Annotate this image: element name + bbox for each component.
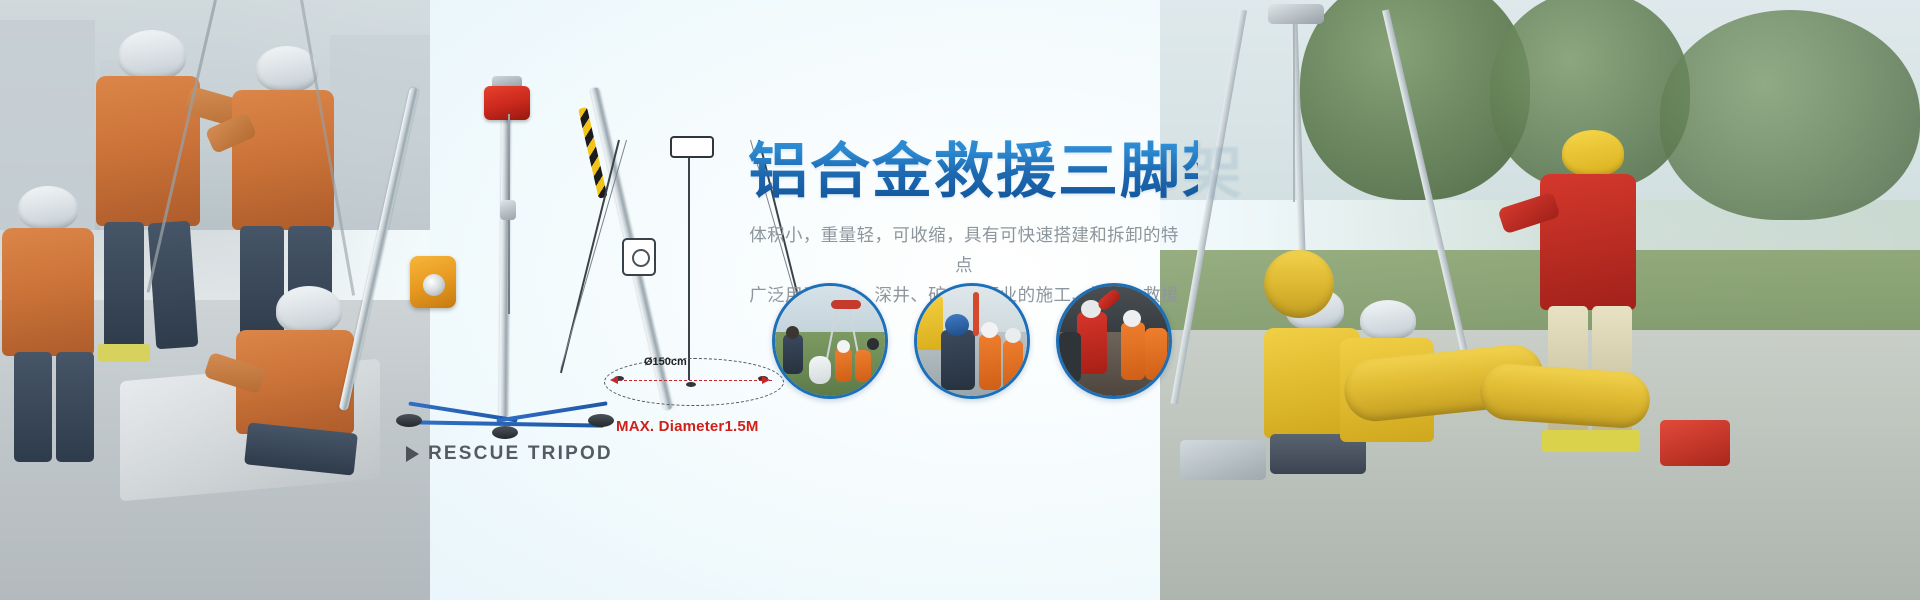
thumb-person-head	[867, 338, 879, 350]
play-triangle-icon	[406, 446, 419, 462]
diagram-leg	[688, 140, 690, 380]
tripod-head-assembly	[484, 86, 530, 120]
thumb-person	[1121, 322, 1145, 380]
thumb-person	[979, 334, 1001, 390]
thumb-person	[1077, 312, 1107, 374]
right-background-photo	[1160, 0, 1920, 600]
thumb-person	[1003, 340, 1023, 390]
thumb-helmet-blue	[945, 314, 969, 336]
thumb-person-head	[1123, 310, 1141, 327]
diagram-max-diameter-label: MAX. Diameter1.5M	[616, 418, 759, 435]
diagram-base-circle	[604, 358, 784, 406]
product-caption-label: RESCUE TRIPOD	[428, 443, 613, 465]
tripod-winch-drum	[423, 274, 445, 296]
thumbnail-field-rescue-training-photo[interactable]	[772, 283, 888, 399]
thumb-person-head	[981, 322, 998, 338]
thumb-tripod-head	[831, 300, 861, 309]
diagram-winch	[622, 238, 656, 276]
tripod-foot	[492, 426, 518, 439]
thumb-equipment	[809, 356, 831, 384]
subtitle-line-1: 体积小，重量轻，可收缩，具有可快速搭建和拆卸的特点	[749, 225, 1179, 275]
product-banner: RESCUE TRIPOD Ø150cm MAX. Diameter1.5M 铝…	[0, 0, 1920, 600]
product-caption: RESCUE TRIPOD	[406, 443, 613, 465]
thumb-pole	[973, 292, 979, 336]
thumb-person	[783, 334, 803, 374]
diagram-diameter-line	[614, 380, 772, 382]
page-title: 铝合金救援三脚架	[748, 140, 1198, 203]
thumbnail-row	[772, 283, 1172, 399]
right-photo-equipment-case	[1180, 440, 1266, 480]
right-photo-hose-coil	[1264, 250, 1334, 318]
tripod-foot	[396, 414, 422, 427]
thumb-person-head	[837, 340, 850, 353]
thumb-person-head	[1005, 328, 1021, 343]
thumb-person	[941, 330, 975, 390]
diagram-arrow-right-icon	[762, 376, 770, 384]
diagram-head	[670, 136, 714, 158]
right-photo-cable	[1293, 22, 1295, 202]
thumb-manhole	[1059, 332, 1081, 382]
thumb-person	[855, 350, 871, 382]
right-photo-tripod-head	[1268, 4, 1324, 24]
diagram-arrow-left-icon	[610, 376, 618, 384]
thumbnail-confined-space-rescue-photo[interactable]	[1056, 283, 1172, 399]
diagram-winch-drum	[632, 249, 650, 267]
thumb-person	[1145, 328, 1167, 380]
thumb-person	[835, 348, 852, 382]
right-photo-equipment-case	[1660, 420, 1730, 466]
thumb-signboard	[917, 296, 943, 350]
thumbnail-worksite-inspection-photo[interactable]	[914, 283, 1030, 399]
right-photo-tree	[1660, 10, 1920, 220]
diagram-diameter-label: Ø150cm	[644, 356, 687, 368]
thumb-person-head	[786, 326, 799, 339]
right-photo-ventilation-hose	[1478, 362, 1651, 430]
tripod-pulley	[500, 200, 516, 220]
